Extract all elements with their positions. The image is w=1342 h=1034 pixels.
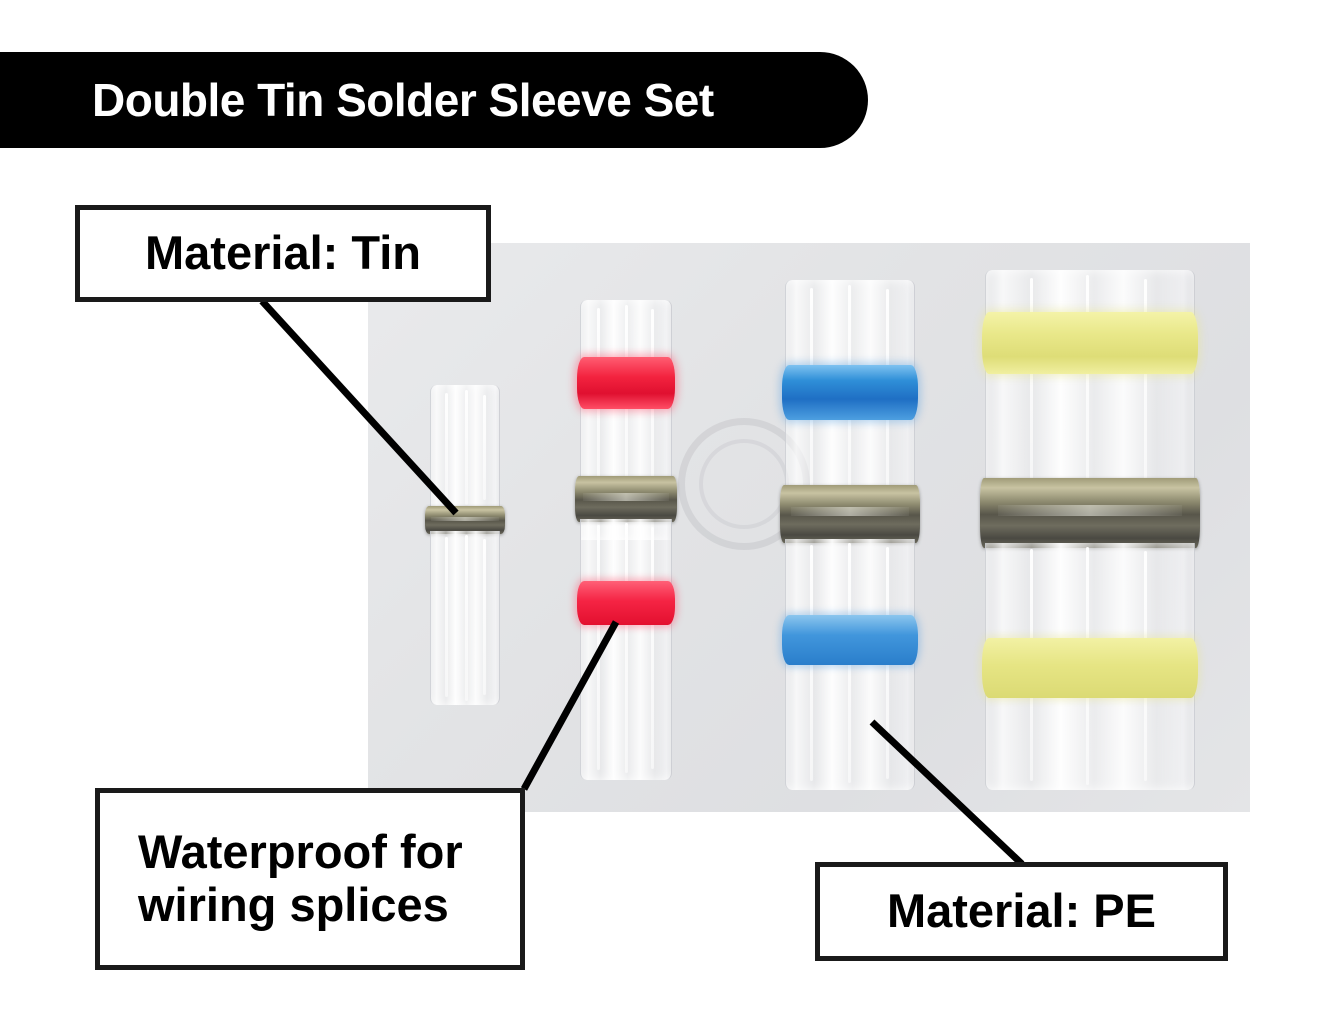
callout-material-tin-label: Material: Tin <box>145 227 421 280</box>
connector-blue <box>785 280 915 790</box>
connector-yellow <box>985 270 1195 790</box>
product-photo <box>368 243 1250 812</box>
pe-band-yellow-bottom <box>982 638 1198 698</box>
pe-band-blue-top <box>782 365 918 420</box>
tube-streak <box>483 395 486 500</box>
title-banner: Double Tin Solder Sleeve Set <box>0 52 868 148</box>
tin-ring <box>575 476 677 522</box>
callout-material-pe-label: Material: PE <box>887 885 1156 938</box>
pe-tube-upper <box>430 385 500 510</box>
connector-red <box>580 300 672 780</box>
callout-waterproof[interactable]: Waterproof for wiring splices <box>95 788 525 970</box>
connector-clear <box>430 385 500 705</box>
tin-ring <box>980 478 1200 548</box>
tube-streak <box>651 527 654 769</box>
tube-streak <box>465 390 468 505</box>
callout-waterproof-label: Waterproof for wiring splices <box>138 826 463 931</box>
tube-streak <box>445 393 448 503</box>
callout-material-tin[interactable]: Material: Tin <box>75 205 491 302</box>
callout-waterproof-line1: Waterproof for <box>138 825 463 878</box>
tin-ring <box>425 506 505 534</box>
tube-streak <box>625 523 628 773</box>
tube-streak <box>465 535 468 701</box>
pe-band-blue-bottom <box>782 615 918 665</box>
tube-streak <box>445 537 448 697</box>
pe-band-yellow-top <box>982 312 1198 374</box>
tube-streak <box>483 539 486 695</box>
pe-band-red-top <box>577 357 675 409</box>
pe-tube-lower <box>430 531 500 705</box>
pe-tube-lower <box>580 519 672 780</box>
tube-streak <box>597 525 600 770</box>
callout-material-pe[interactable]: Material: PE <box>815 862 1228 961</box>
pe-band-red-bottom <box>577 581 675 625</box>
tin-ring <box>780 485 920 543</box>
page-title: Double Tin Solder Sleeve Set <box>92 73 714 127</box>
callout-waterproof-line2: wiring splices <box>138 878 449 931</box>
